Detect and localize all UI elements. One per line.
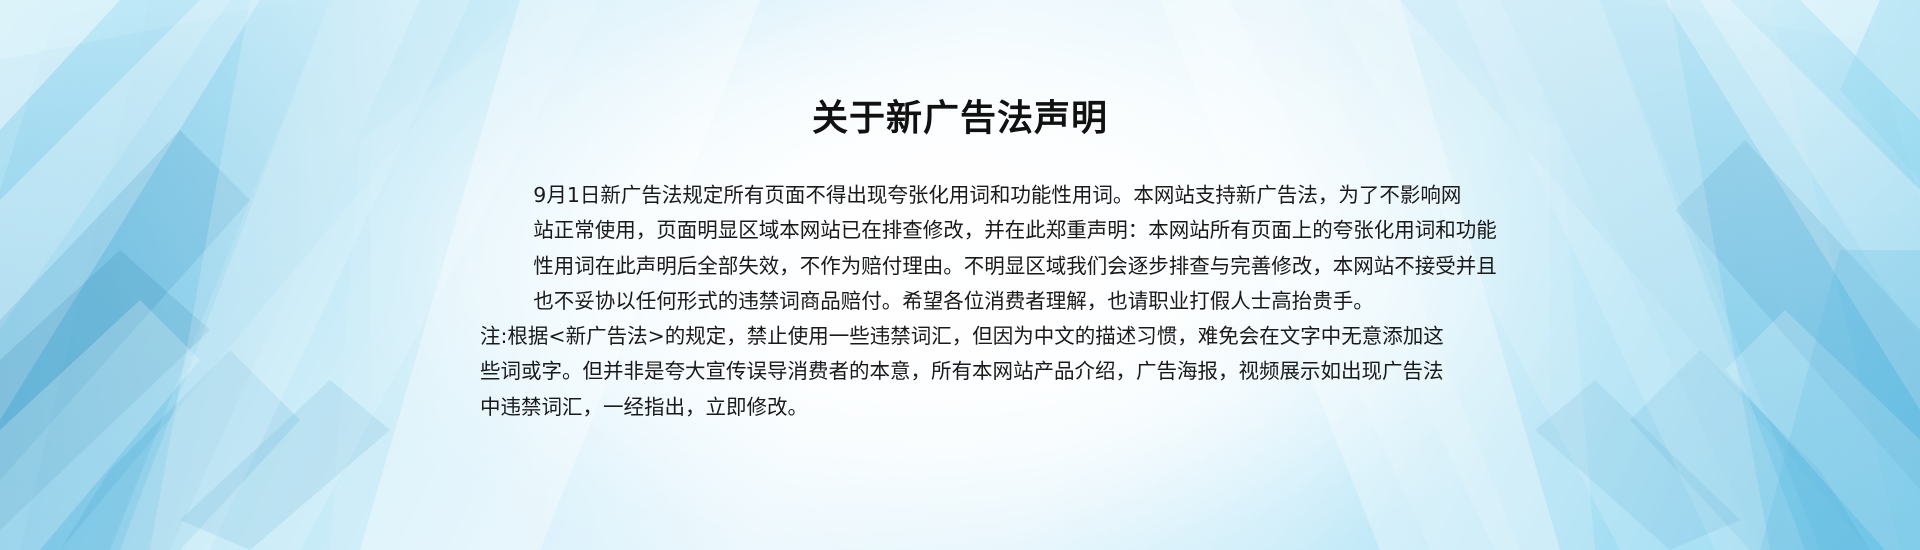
statement-paragraph-2: 注:根据<新广告法>的规定，禁止使用一些违禁词汇，但因为中文的描述习惯，难免会在… — [480, 319, 1444, 425]
statement-body: 9月1日新广告法规定所有页面不得出现夸张化用词和功能性用词。本网站支持新广告法，… — [480, 178, 1444, 425]
statement-line: 注:根据<新广告法>的规定，禁止使用一些违禁词汇，但因为中文的描述习惯，难免会在… — [480, 319, 1444, 354]
statement-content: 关于新广告法声明 9月1日新广告法规定所有页面不得出现夸张化用词和功能性用词。本… — [460, 0, 1460, 550]
statement-line: 也不妥协以任何形式的违禁词商品赔付。希望各位消费者理解，也请职业打假人士高抬贵手… — [480, 284, 1444, 319]
statement-line: 站正常使用，页面明显区域本网站已在排查修改，并在此郑重声明：本网站所有页面上的夸… — [480, 213, 1444, 248]
statement-line: 性用词在此声明后全部失效，不作为赔付理由。不明显区域我们会逐步排查与完善修改，本… — [480, 249, 1444, 284]
statement-line: 些词或字。但并非是夸大宣传误导消费者的本意，所有本网站产品介绍，广告海报，视频展… — [480, 354, 1444, 389]
statement-paragraph-1: 9月1日新广告法规定所有页面不得出现夸张化用词和功能性用词。本网站支持新广告法，… — [480, 178, 1444, 319]
advertising-law-statement-banner: 关于新广告法声明 9月1日新广告法规定所有页面不得出现夸张化用词和功能性用词。本… — [0, 0, 1920, 550]
statement-line: 9月1日新广告法规定所有页面不得出现夸张化用词和功能性用词。本网站支持新广告法，… — [480, 178, 1444, 213]
page-title: 关于新广告法声明 — [460, 101, 1460, 137]
statement-line: 中违禁词汇，一经指出，立即修改。 — [480, 390, 1444, 425]
